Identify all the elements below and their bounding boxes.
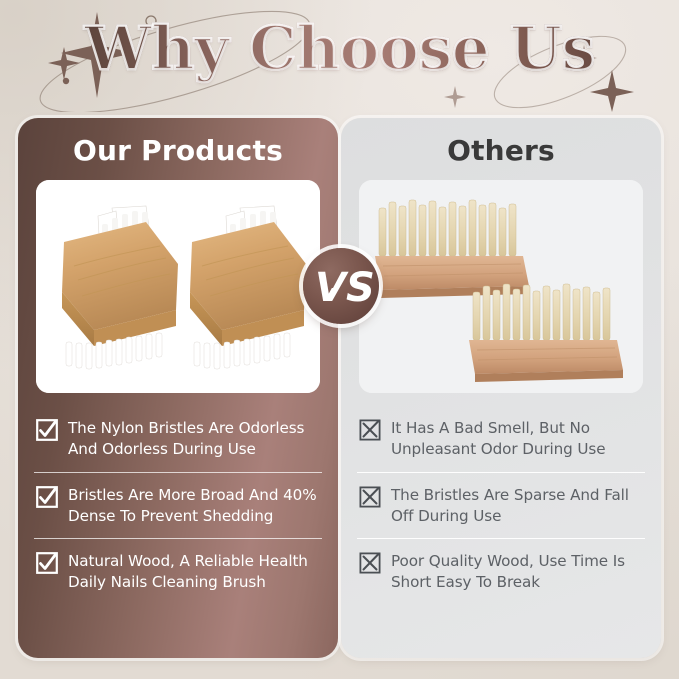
page-title: Why Choose Us (0, 12, 679, 86)
nylon-brush-illustration (36, 180, 320, 393)
list-item: The Nylon Bristles Are Odorless And Odor… (34, 406, 322, 472)
others-panel: Others (341, 118, 661, 658)
list-item-text: Bristles Are More Broad And 40% Dense To… (68, 485, 322, 527)
others-list: It Has A Bad Smell, But No Unpleasant Od… (341, 406, 661, 604)
infographic-canvas: Why Choose Us Our Products (0, 0, 679, 679)
list-item-text: It Has A Bad Smell, But No Unpleasant Od… (391, 418, 645, 460)
checkbox-check-icon (36, 486, 58, 508)
checkbox-cross-icon (359, 486, 381, 508)
our-products-photo (36, 180, 320, 393)
list-item-text: The Bristles Are Sparse And Fall Off Dur… (391, 485, 645, 527)
list-item: The Bristles Are Sparse And Fall Off Dur… (357, 472, 645, 538)
header: Why Choose Us (0, 0, 679, 112)
list-item: It Has A Bad Smell, But No Unpleasant Od… (357, 406, 645, 472)
sparkle-bottom-small (444, 86, 466, 108)
vs-badge: VS VS (303, 248, 379, 324)
others-title: Others (341, 134, 661, 167)
list-item: Poor Quality Wood, Use Time Is Short Eas… (357, 538, 645, 604)
list-item: Bristles Are More Broad And 40% Dense To… (34, 472, 322, 538)
natural-bristle-brush-illustration (359, 180, 643, 393)
list-item: Natural Wood, A Reliable Health Daily Na… (34, 538, 322, 604)
our-products-title: Our Products (18, 134, 338, 167)
our-products-panel: Our Products (18, 118, 338, 658)
checkbox-cross-icon (359, 419, 381, 441)
checkbox-check-icon (36, 419, 58, 441)
our-products-list: The Nylon Bristles Are Odorless And Odor… (18, 406, 338, 604)
checkbox-check-icon (36, 552, 58, 574)
vs-lightning-icon: VS VS (309, 254, 373, 318)
checkbox-cross-icon (359, 552, 381, 574)
others-photo (359, 180, 643, 393)
list-item-text: Natural Wood, A Reliable Health Daily Na… (68, 551, 322, 593)
list-item-text: The Nylon Bristles Are Odorless And Odor… (68, 418, 322, 460)
list-item-text: Poor Quality Wood, Use Time Is Short Eas… (391, 551, 645, 593)
